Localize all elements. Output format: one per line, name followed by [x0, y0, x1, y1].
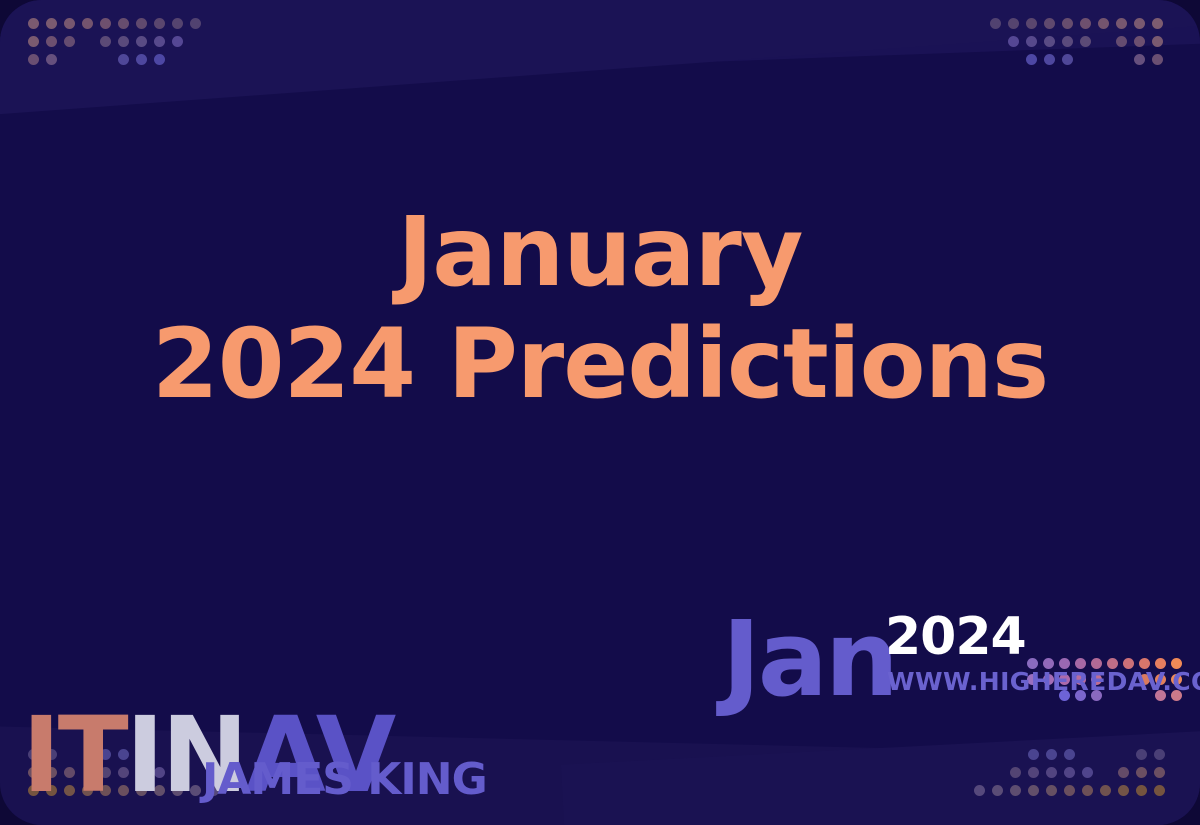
title-line-2: 2024 Predictions — [40, 308, 1160, 420]
page-title: January 2024 Predictions — [0, 196, 1200, 421]
brand-block: ITINAV JAMES KING — [22, 705, 542, 807]
month-label: Jan — [722, 607, 896, 711]
host-name: JAMES KING — [202, 754, 487, 805]
year-label: 2024 — [885, 611, 1026, 663]
background-band-lower-right — [561, 725, 1200, 825]
dot-grid-bottom-right-icon — [974, 749, 1172, 803]
background-band-upper — [0, 0, 1200, 120]
poster-card: January 2024 Predictions ITINAV JAMES KI… — [0, 0, 1200, 825]
dot-grid-top-right-icon — [990, 18, 1170, 72]
dot-grid-top-left-icon — [28, 18, 208, 72]
brand-wordmark-part-1: IT — [22, 694, 126, 816]
title-line-1: January — [40, 196, 1160, 308]
background-band-upper-secondary — [0, 0, 1200, 90]
website-url: WWW.HIGHEREDAV.COM — [887, 667, 1200, 696]
